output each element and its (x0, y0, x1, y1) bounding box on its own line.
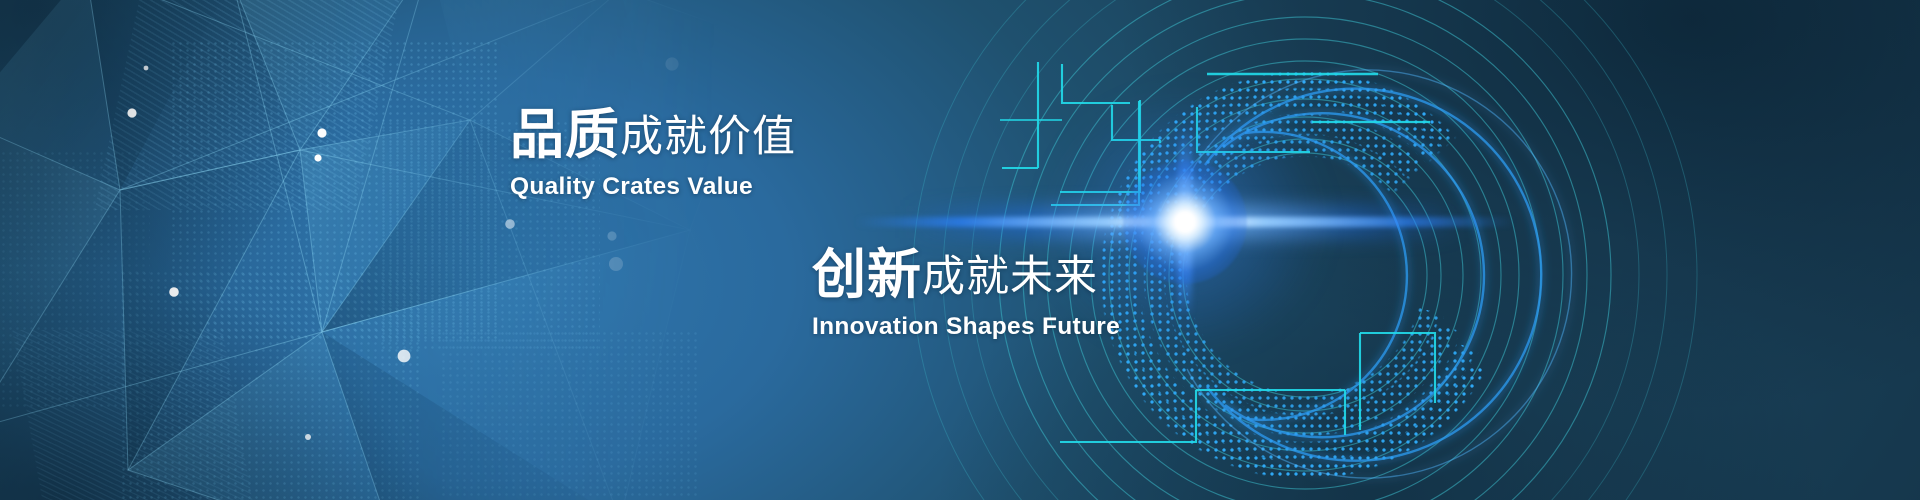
vignette-overlay (0, 0, 1920, 500)
hero-banner: 品质成就价值 Quality Crates Value 创新成就未来 Innov… (0, 0, 1920, 500)
